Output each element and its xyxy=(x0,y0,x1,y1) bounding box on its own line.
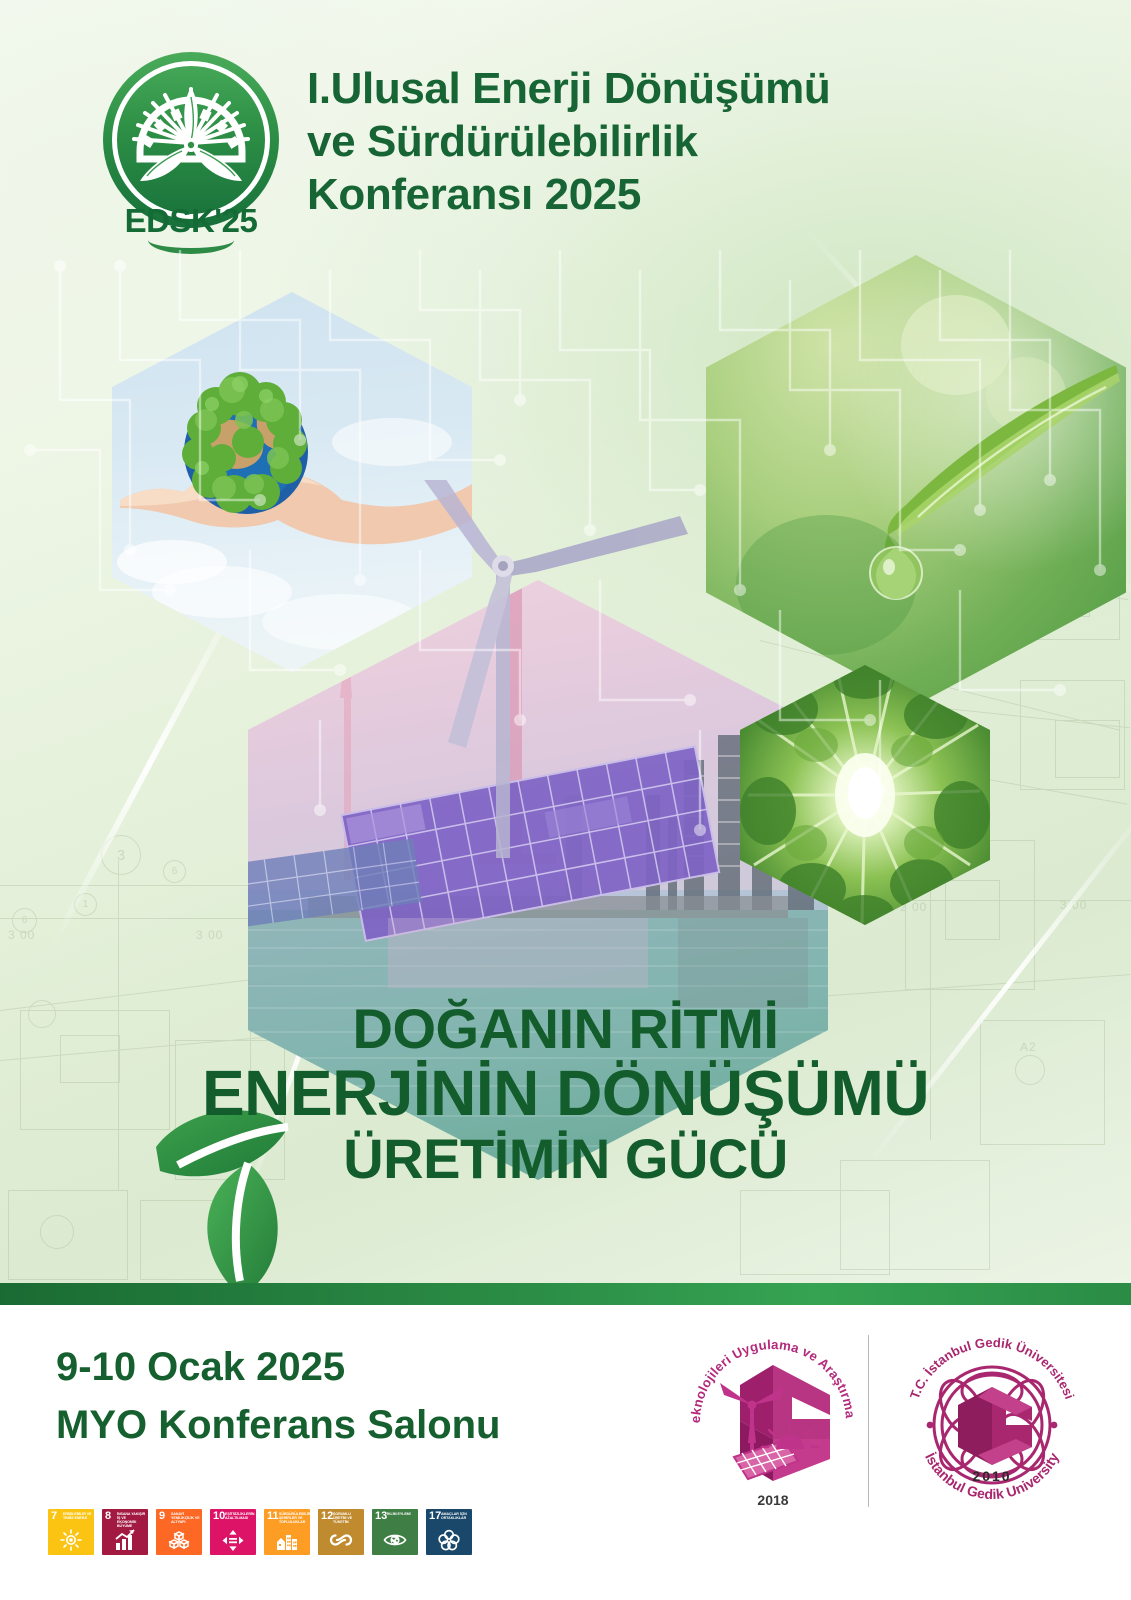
poster-header: EDSK'25 I.Ulusal Enerji Dönüşümü ve Sürd… xyxy=(0,0,1131,270)
sponsor-divider xyxy=(868,1335,869,1507)
slogan-line-2: ENERJİNİN DÖNÜŞÜMÜ xyxy=(0,1061,1131,1126)
sdg-goal-10: 10 EŞİTSİZLİKLERİN AZALTILMASI xyxy=(210,1509,256,1555)
equal-arrows-icon xyxy=(210,1528,256,1552)
eye-globe-icon xyxy=(372,1528,418,1552)
sdg-goal-9: 9 SANAYİ YENİLİKÇİLİK VE ALTYAPI xyxy=(156,1509,202,1555)
sdg-label: ERİŞİLEBİLİR VE TEMİZ ENERJİ xyxy=(63,1512,92,1520)
event-venue: MYO Konferans Salonu xyxy=(56,1403,501,1448)
sdg-goal-strip: 7 ERİŞİLEBİLİR VE TEMİZ ENERJİ 8 İNSANA … xyxy=(48,1509,472,1555)
hexagon-hand-holding-green-earth xyxy=(112,292,472,672)
event-date: 9-10 Ocak 2025 xyxy=(56,1345,345,1390)
green-divider-bar xyxy=(0,1283,1131,1305)
hexagon-leaf-water-droplet xyxy=(706,255,1126,705)
sdg-label: İKLİM EYLEMİ xyxy=(387,1512,416,1516)
city-icon xyxy=(264,1528,310,1552)
sdg-goal-7: 7 ERİŞİLEBİLİR VE TEMİZ ENERJİ xyxy=(48,1509,94,1555)
sdg-label: EŞİTSİZLİKLERİN AZALTILMASI xyxy=(225,1512,254,1520)
cubes-icon xyxy=(156,1528,202,1552)
sdg-goal-8: 8 İNSANA YAKIŞIR İŞ VE EKONOMİK BÜYÜME xyxy=(102,1509,148,1555)
growth-chart-icon xyxy=(102,1528,148,1552)
sdg-number: 7 xyxy=(51,1511,57,1522)
sponsor-logos: Enerji Teknolojileri Uygulama ve Araştır… xyxy=(670,1327,1110,1527)
sdg-number: 8 xyxy=(105,1511,111,1522)
infinity-icon xyxy=(318,1528,364,1552)
sdg-label: SORUMLU ÜRETİM VE TÜKETİM xyxy=(333,1512,362,1524)
sdg-label: İNSANA YAKIŞIR İŞ VE EKONOMİK BÜYÜME xyxy=(117,1512,146,1529)
sun-icon xyxy=(48,1528,94,1552)
hexagon-image-collage xyxy=(0,250,1131,950)
sdg-goal-12: 12 SORUMLU ÜRETİM VE TÜKETİM xyxy=(318,1509,364,1555)
sdg-label: SANAYİ YENİLİKÇİLİK VE ALTYAPI xyxy=(171,1512,200,1524)
logo-badge-text: EDSK'25 xyxy=(96,202,286,240)
sdg-label: SÜRDÜRÜLEBİLİR ŞEHİRLER VE TOPLULUKLAR xyxy=(279,1512,308,1524)
sdg-number: 12 xyxy=(321,1511,333,1522)
slogan-line-3: ÜRETİMİN GÜCÜ xyxy=(0,1130,1131,1187)
title-line-3: Konferansı 2025 xyxy=(307,168,1007,221)
conference-title: I.Ulusal Enerji Dönüşümü ve Sürdürülebil… xyxy=(307,62,1007,222)
slogan-line-1: DOĞANIN RİTMİ xyxy=(0,1000,1131,1057)
istanbul-gedik-universitesi-logo: T.C. İstanbul Gedik Üniversitesi İstanbu… xyxy=(892,1329,1092,1515)
sdg-goal-13: 13 İKLİM EYLEMİ xyxy=(372,1509,418,1555)
poster-slogan: DOĞANIN RİTMİ ENERJİNİN DÖNÜŞÜMÜ ÜRETİMİ… xyxy=(0,1000,1131,1187)
sdg-goal-17: 17 AMAÇLAR İÇİN ORTAKLIKLAR xyxy=(426,1509,472,1555)
poster-footer: 9-10 Ocak 2025 MYO Konferans Salonu Ener… xyxy=(0,1305,1131,1600)
sdg-number: 10 xyxy=(213,1511,225,1522)
sdg-label: AMAÇLAR İÇİN ORTAKLIKLAR xyxy=(441,1512,470,1520)
university-year: 2010 xyxy=(972,1468,1011,1484)
sdg-number: 11 xyxy=(267,1511,279,1522)
title-line-2: ve Sürdürülebilirlik xyxy=(307,115,1007,168)
conference-poster: 3 6 1 6 3 00 3 00 2 00 3 00 A2 xyxy=(0,0,1131,1600)
edsk-logo: EDSK'25 xyxy=(96,52,286,252)
sdg-number: 13 xyxy=(375,1511,387,1522)
enerji-teknolojileri-merkezi-logo: Enerji Teknolojileri Uygulama ve Araştır… xyxy=(680,1329,866,1515)
sdg-number: 17 xyxy=(429,1511,441,1522)
merkezi-year: 2018 xyxy=(757,1492,788,1508)
leaf-turbine-sun-emblem-icon xyxy=(120,69,262,211)
title-line-1: I.Ulusal Enerji Dönüşümü xyxy=(307,62,1007,115)
sdg-goal-11: 11 SÜRDÜRÜLEBİLİR ŞEHİRLER VE TOPLULUKLA… xyxy=(264,1509,310,1555)
circles-icon xyxy=(426,1528,472,1552)
sdg-number: 9 xyxy=(159,1511,165,1522)
